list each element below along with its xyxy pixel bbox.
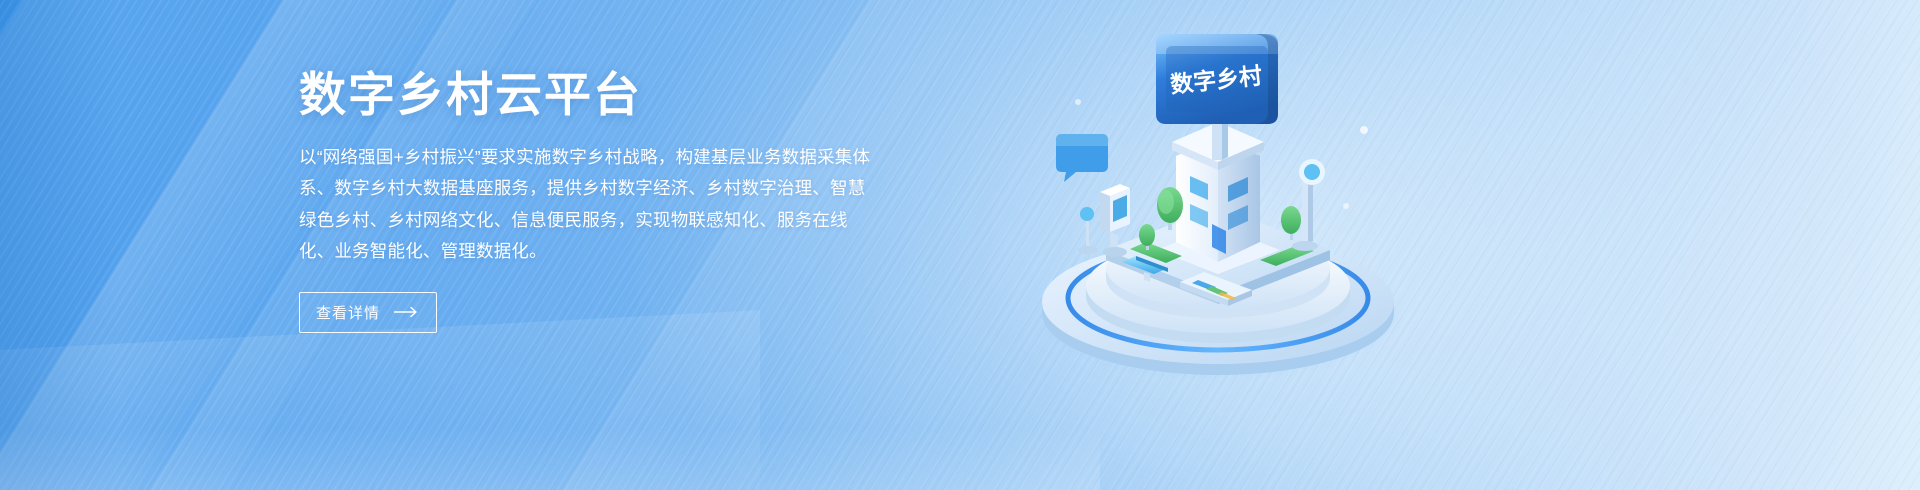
hero-content: 数字乡村云平台 以“网络强国+乡村振兴”要求实施数字乡村战略，构建基层业务数据采… bbox=[299, 66, 899, 333]
hero-banner: 数字乡村 bbox=[0, 0, 1920, 490]
decor-dot bbox=[1343, 203, 1349, 209]
floating-card bbox=[1056, 134, 1108, 182]
hero-description: 以“网络强国+乡村振兴”要求实施数字乡村战略，构建基层业务数据采集体系、数字乡村… bbox=[299, 142, 879, 268]
view-details-button[interactable]: 查看详情 bbox=[299, 292, 437, 333]
decor-dot bbox=[1360, 126, 1368, 134]
bottom-edge-glow bbox=[0, 428, 1100, 490]
page-title: 数字乡村云平台 bbox=[299, 66, 899, 125]
decor-dot bbox=[1075, 99, 1081, 105]
arrow-right-icon bbox=[394, 306, 420, 318]
view-details-label: 查看详情 bbox=[316, 302, 380, 323]
left-edge-shade bbox=[0, 0, 118, 490]
antenna bbox=[1078, 207, 1098, 254]
digital-village-illustration: 数字乡村 bbox=[960, 10, 1480, 410]
background-panel-5 bbox=[0, 310, 760, 490]
